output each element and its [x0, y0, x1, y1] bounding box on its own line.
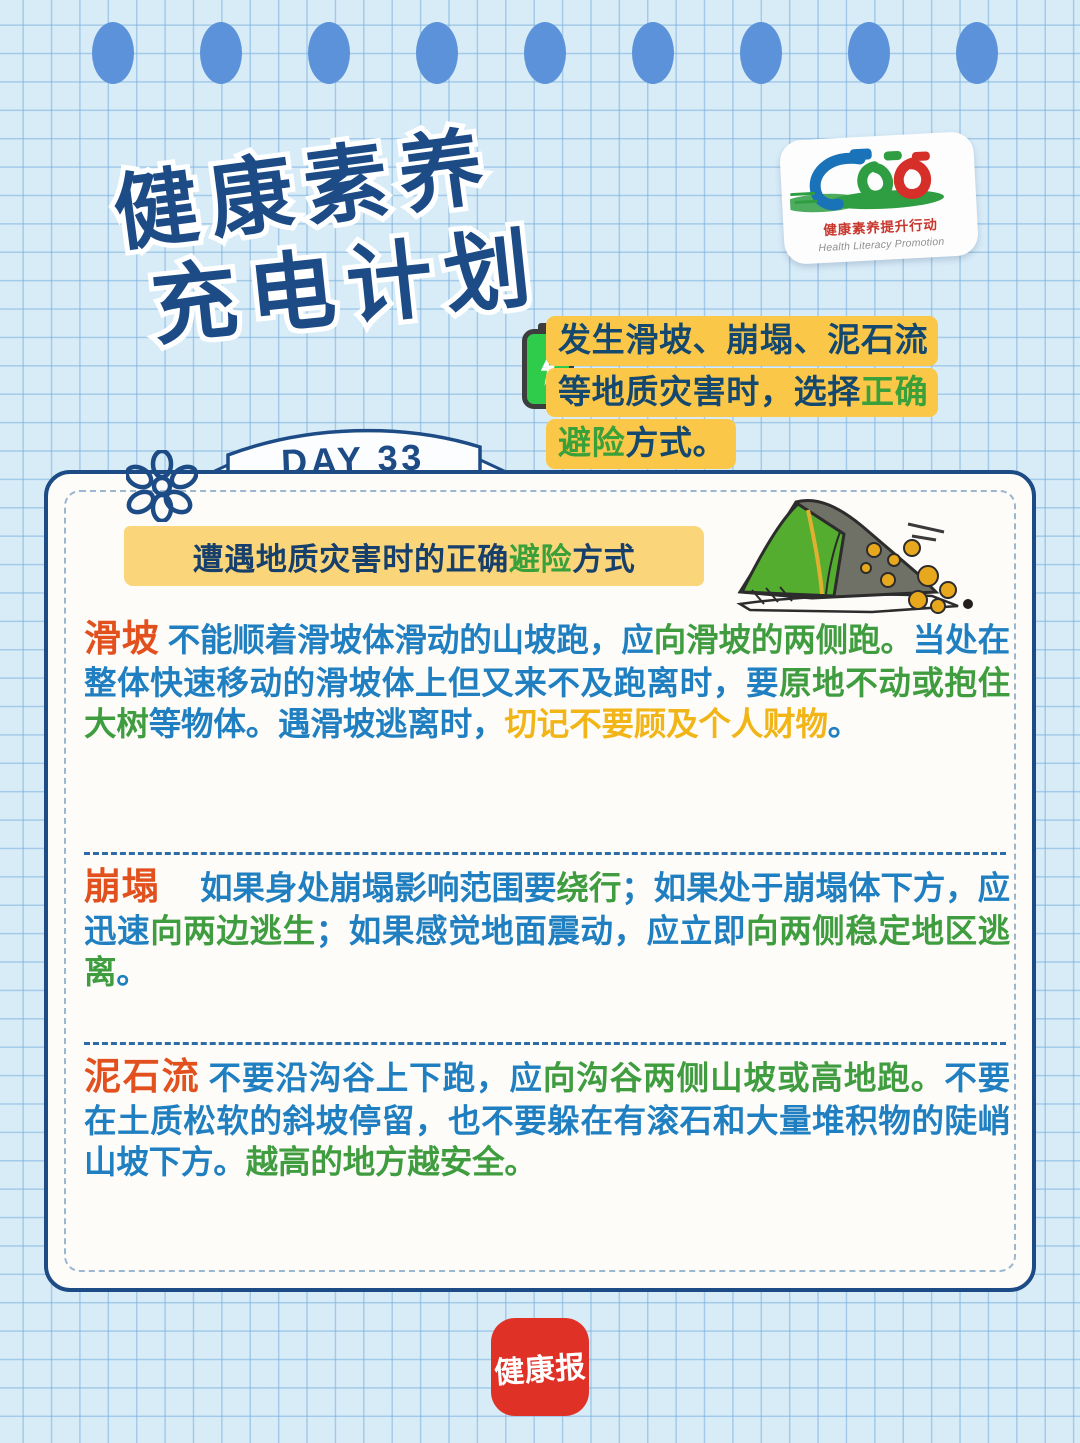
- text-run: 向滑坡的两侧跑。: [654, 622, 913, 658]
- text-run: 。: [828, 706, 860, 742]
- text-run: 向两边逃生: [150, 913, 316, 949]
- binding-hole: [740, 22, 782, 84]
- binding-hole: [524, 22, 566, 84]
- section-keyword: 泥石流: [84, 1056, 201, 1097]
- binding-hole: [632, 22, 674, 84]
- headline-block: 发生滑坡、崩塌、泥石流 等地质灾害时，选择正确 避险方式。: [546, 316, 1022, 469]
- section-divider-2: [84, 1042, 1006, 1045]
- headline-line-3: 避险方式。: [546, 419, 736, 469]
- card-heading-text: 遭遇地质灾害时的正确避险方式: [193, 534, 636, 579]
- section-landslide: 滑坡不能顺着滑坡体滑动的山坡跑，应向滑坡的两侧跑。当处在整体快速移动的滑坡体上但…: [84, 616, 1010, 746]
- headline-line-2: 等地质灾害时，选择正确: [546, 368, 938, 418]
- section-body: 崩塌 如果身处崩塌影响范围要绕行；如果处于崩塌体下方，应迅速向两边逃生；如果感觉…: [84, 864, 1010, 994]
- landslide-tent-icon: [722, 492, 990, 620]
- headline-line-1: 发生滑坡、崩塌、泥石流: [546, 316, 938, 366]
- binding-hole: [308, 22, 350, 84]
- section-runs: 不能顺着滑坡体滑动的山坡跑，应向滑坡的两侧跑。当处在整体快速移动的滑坡体上但又来…: [84, 622, 1010, 742]
- section-keyword: 滑坡: [84, 618, 160, 659]
- text-run: 。: [116, 954, 148, 990]
- brand-name: 健康报: [493, 1342, 588, 1392]
- text-run: 向沟谷两侧山坡或高地跑。: [543, 1060, 944, 1096]
- section-divider-1: [84, 852, 1006, 855]
- flower-icon: [126, 450, 198, 522]
- brand-logo: 健康报: [491, 1318, 589, 1416]
- section-runs: 如果身处崩塌影响范围要绕行；如果处于崩塌体下方，应迅速向两边逃生；如果感觉地面震…: [84, 870, 1010, 990]
- card-heading: 遭遇地质灾害时的正确避险方式: [124, 526, 704, 586]
- text-run: 越高的地方越安全。: [246, 1144, 537, 1180]
- section-debris-flow: 泥石流不要沿沟谷上下跑，应向沟谷两侧山坡或高地跑。不要在土质松软的斜坡停留，也不…: [84, 1054, 1010, 1184]
- binding-hole: [416, 22, 458, 84]
- section-keyword: 崩塌: [84, 866, 160, 907]
- text-run: 如果身处崩塌影响范围要: [168, 870, 557, 906]
- binding-hole: [956, 22, 998, 84]
- text-run: 不要沿沟谷上下跑，应: [209, 1060, 543, 1096]
- binding-hole: [848, 22, 890, 84]
- text-run: 不能顺着滑坡体滑动的山坡跑，应: [168, 622, 654, 658]
- section-runs: 不要沿沟谷上下跑，应向沟谷两侧山坡或高地跑。不要在土质松软的斜坡停留，也不要躲在…: [84, 1060, 1010, 1180]
- text-run: 切记不要顾及个人财物: [504, 706, 827, 742]
- section-body: 泥石流不要沿沟谷上下跑，应向沟谷两侧山坡或高地跑。不要在土质松软的斜坡停留，也不…: [84, 1054, 1010, 1184]
- binding-holes: [0, 22, 1080, 84]
- binding-hole: [92, 22, 134, 84]
- content-card: 遭遇地质灾害时的正确避险方式 滑坡不能顺着滑坡体滑动的山坡跑，应向滑坡的两侧跑。…: [44, 470, 1036, 1292]
- section-body: 滑坡不能顺着滑坡体滑动的山坡跑，应向滑坡的两侧跑。当处在整体快速移动的滑坡体上但…: [84, 616, 1010, 746]
- binding-hole: [200, 22, 242, 84]
- program-logo: 健康素养提升行动 Health Literacy Promotion: [779, 131, 979, 265]
- text-run: 等物体。遇滑坡逃离时，: [149, 706, 505, 742]
- text-run: ；如果感觉地面震动，应立即: [316, 913, 746, 949]
- poster-page: 健康素养 充电计划 DAY 33: [0, 0, 1080, 1443]
- text-run: 绕行: [556, 870, 621, 906]
- health-literacy-logo-icon: [787, 137, 969, 224]
- section-collapse: 崩塌 如果身处崩塌影响范围要绕行；如果处于崩塌体下方，应迅速向两边逃生；如果感觉…: [84, 864, 1010, 994]
